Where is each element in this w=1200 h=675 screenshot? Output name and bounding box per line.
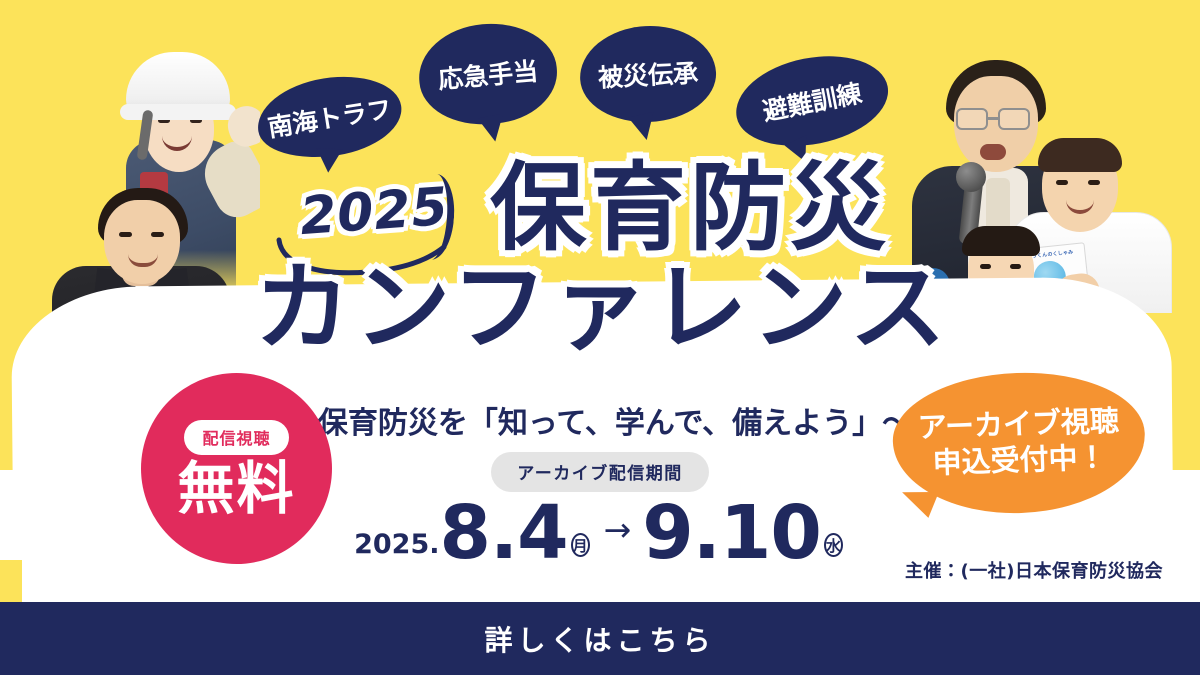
eyeglasses-icon [956, 108, 988, 130]
bubble-tail [478, 114, 508, 144]
free-badge-pill: 配信視聴 [184, 420, 288, 455]
eyeglasses-bridge [988, 117, 998, 120]
footer-cta-label: 詳しくはこちら [484, 619, 715, 659]
organizer-text: 主催：(一社)日本保育防災協会 [0, 557, 1163, 583]
topic-bubble-label: 被災伝承 [597, 53, 699, 94]
free-viewing-badge: 配信視聴 無料 [141, 373, 332, 564]
page-title: 保育防災 カンファレンス [0, 160, 1200, 358]
topic-bubble-label: 応急手当 [437, 52, 540, 97]
topic-bubble-label: 避難訓練 [759, 74, 864, 128]
footer-cta-bar[interactable]: 詳しくはこちら [0, 602, 1200, 675]
date-end-weekday: 水 [824, 533, 843, 557]
archive-period-label: アーカイブ配信期間 [491, 452, 708, 492]
title-line-1: 保育防災 [0, 160, 1200, 258]
free-badge-value: 無料 [178, 461, 296, 518]
helmet-brim [120, 104, 236, 120]
eyeglasses-icon-right [998, 108, 1030, 130]
title-line-2: カンファレンス [0, 260, 1200, 358]
archive-period-block: アーカイブ配信期間 2025. 8.4 月 → 9.10 水 [380, 452, 820, 567]
conference-banner: 南海トラフ 応急手当 被災伝承 避難訓練 だれうくんのくし [0, 0, 1200, 675]
topic-bubble-label: 南海トラフ [265, 89, 394, 144]
title-block: 2025 保育防災 カンファレンス [0, 160, 1200, 358]
archive-signup-line-2: 申込受付中！ [932, 440, 1107, 482]
date-start-weekday: 月 [571, 533, 590, 557]
